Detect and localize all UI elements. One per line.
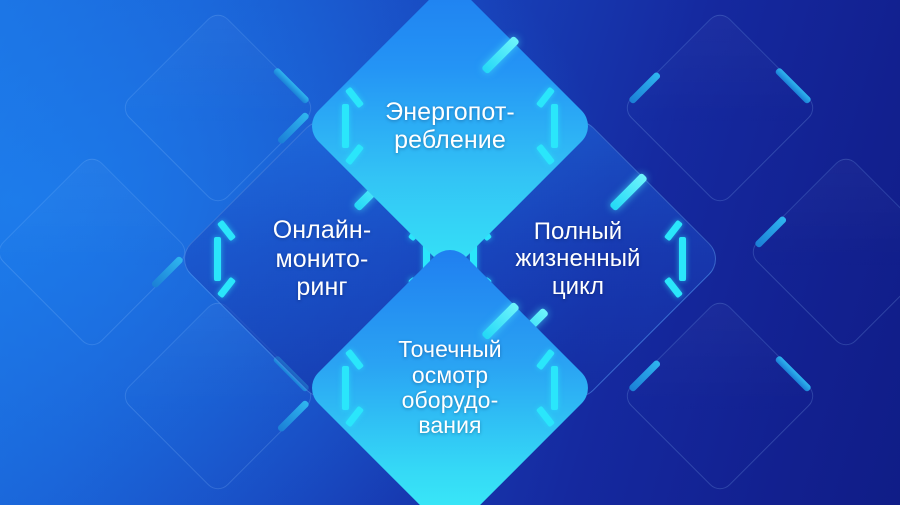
diamond-top[interactable]: Энергопот- ребление xyxy=(346,22,554,230)
decor-accent-icon xyxy=(151,256,184,289)
decor-accent-icon xyxy=(628,71,661,104)
bracket-left-icon xyxy=(342,351,368,425)
bracket-right-icon xyxy=(532,89,558,163)
bracket-right-icon xyxy=(532,351,558,425)
bracket-right-icon xyxy=(660,222,686,296)
decor-accent-icon xyxy=(774,67,811,104)
bracket-left-icon xyxy=(214,222,240,296)
decor-accent-icon xyxy=(628,359,661,392)
slide-canvas: Полный жизненный цикл Онлайн- монито- ри… xyxy=(0,0,900,505)
decor-accent-icon xyxy=(272,67,309,104)
decor-diamond-mid-left xyxy=(0,153,191,351)
decor-accent-icon xyxy=(774,355,811,392)
decor-diamond-mid-right xyxy=(747,153,900,351)
bracket-left-icon xyxy=(342,89,368,163)
decor-accent-icon xyxy=(277,400,310,433)
decor-accent-icon xyxy=(754,215,787,248)
diamond-bottom[interactable]: Точечный осмотр оборудо- вания xyxy=(346,284,554,492)
